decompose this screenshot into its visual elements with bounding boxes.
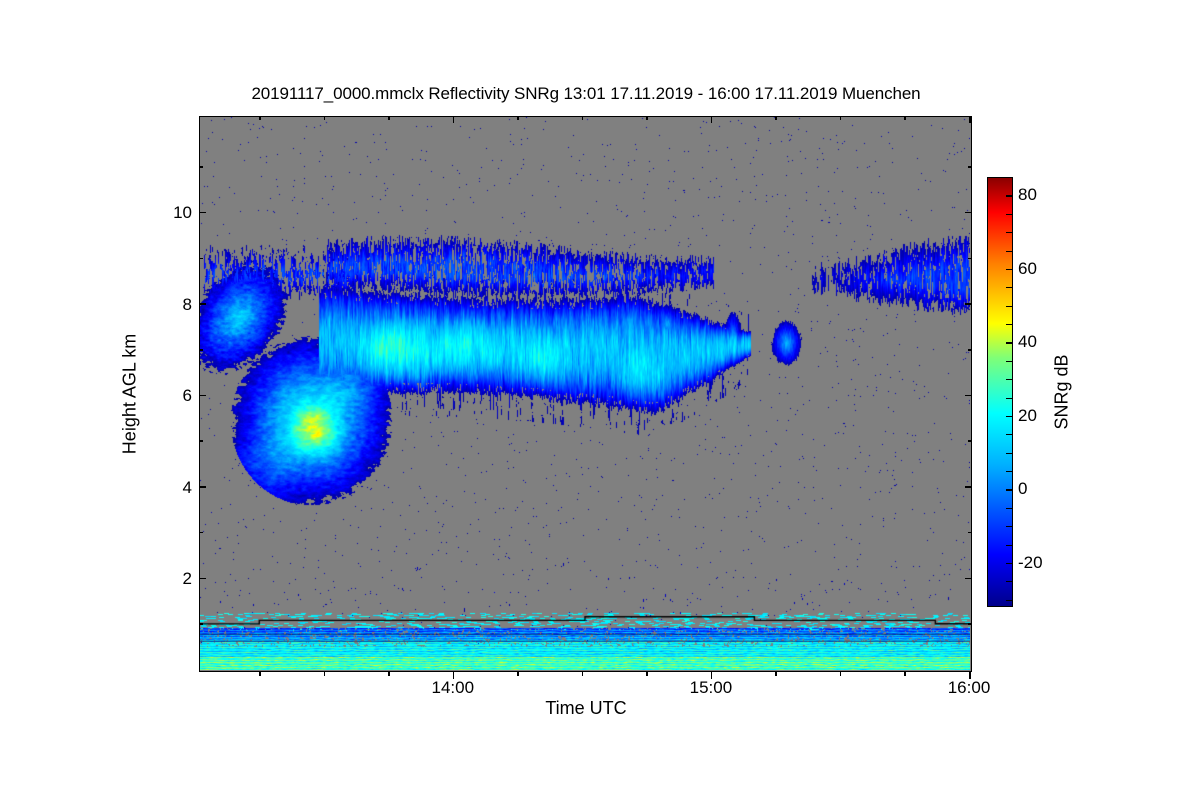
x-minor-tick-mark (775, 116, 777, 120)
colorbar-tick-mark (1006, 287, 1012, 288)
colorbar-tick-label: 40 (1018, 332, 1037, 352)
y-tick-mark (199, 395, 206, 397)
x-minor-tick-mark (840, 116, 842, 120)
y-minor-tick-mark (199, 166, 203, 168)
x-minor-tick-mark (646, 116, 648, 120)
y-minor-tick-mark (968, 623, 972, 625)
x-minor-tick-mark (904, 672, 906, 676)
colorbar-tick-mark (1006, 526, 1012, 527)
colorbar-tick-mark (1006, 508, 1012, 509)
colorbar-tick-mark (1006, 269, 1012, 270)
y-minor-tick-mark (199, 258, 203, 260)
colorbar-tick-mark (1006, 563, 1012, 564)
x-tick-label: 16:00 (948, 678, 991, 698)
colorbar-gradient (988, 178, 1012, 606)
x-axis-label: Time UTC (545, 698, 626, 719)
y-tick-mark (965, 578, 972, 580)
colorbar-tick-mark (1006, 251, 1012, 252)
y-tick-mark (199, 212, 206, 214)
x-minor-tick-mark (324, 672, 326, 676)
x-tick-mark (711, 672, 713, 679)
colorbar-tick-label: 0 (1018, 479, 1027, 499)
colorbar-tick-label: 60 (1018, 259, 1037, 279)
colorbar-tick-mark (1006, 489, 1012, 490)
x-tick-label: 15:00 (690, 678, 733, 698)
x-tick-mark (969, 116, 971, 123)
x-minor-tick-mark (259, 672, 261, 676)
y-tick-mark (199, 486, 206, 488)
colorbar-tick-mark (1006, 453, 1012, 454)
colorbar-tick-label: 80 (1018, 185, 1037, 205)
colorbar-tick-mark (1006, 581, 1012, 582)
y-tick-mark (965, 212, 972, 214)
y-axis-label: Height AGL km (120, 334, 141, 454)
colorbar-tick-mark (1006, 434, 1012, 435)
colorbar-tick-label: 20 (1018, 406, 1037, 426)
x-minor-tick-mark (582, 116, 584, 120)
y-tick-label: 6 (152, 386, 192, 406)
x-minor-tick-mark (517, 116, 519, 120)
x-tick-mark (453, 672, 455, 679)
x-minor-tick-mark (646, 672, 648, 676)
x-minor-tick-mark (775, 672, 777, 676)
y-tick-mark (199, 303, 206, 305)
y-minor-tick-mark (968, 166, 972, 168)
page-title: 20191117_0000.mmclx Reflectivity SNRg 13… (199, 84, 973, 104)
radar-figure: 20191117_0000.mmclx Reflectivity SNRg 13… (0, 0, 1200, 800)
x-minor-tick-mark (904, 116, 906, 120)
x-tick-label: 14:00 (432, 678, 475, 698)
colorbar-tick-mark (1006, 195, 1012, 196)
colorbar-tick-mark (1006, 306, 1012, 307)
colorbar-tick-mark (1006, 361, 1012, 362)
x-tick-mark (969, 672, 971, 679)
y-minor-tick-mark (968, 349, 972, 351)
colorbar-tick-label: -20 (1018, 553, 1043, 573)
y-tick-label: 2 (152, 569, 192, 589)
colorbar-label: SNRg dB (1052, 354, 1073, 429)
y-minor-tick-mark (968, 258, 972, 260)
colorbar-tick-mark (1006, 545, 1012, 546)
colorbar-tick-mark (1006, 232, 1012, 233)
x-minor-tick-mark (259, 116, 261, 120)
colorbar-tick-mark (1006, 471, 1012, 472)
reflectivity-heatmap (200, 117, 970, 670)
x-minor-tick-mark (582, 672, 584, 676)
x-minor-tick-mark (388, 116, 390, 120)
colorbar (987, 177, 1013, 607)
colorbar-tick-mark (1006, 416, 1012, 417)
x-minor-tick-mark (388, 672, 390, 676)
y-tick-mark (965, 395, 972, 397)
x-minor-tick-mark (840, 672, 842, 676)
y-axis-ticks: 246810 (148, 116, 192, 672)
colorbar-tick-mark (1006, 324, 1012, 325)
y-minor-tick-mark (199, 623, 203, 625)
x-tick-mark (711, 116, 713, 123)
x-minor-tick-mark (324, 116, 326, 120)
colorbar-tick-mark (1006, 214, 1012, 215)
colorbar-tick-mark (1006, 379, 1012, 380)
x-minor-tick-mark (517, 672, 519, 676)
colorbar-tick-mark (1006, 398, 1012, 399)
colorbar-tick-mark (1006, 342, 1012, 343)
y-minor-tick-mark (199, 532, 203, 534)
y-minor-tick-mark (199, 440, 203, 442)
colorbar-tick-mark (1006, 600, 1012, 601)
y-minor-tick-mark (968, 532, 972, 534)
plot-area (199, 116, 972, 672)
y-tick-mark (965, 486, 972, 488)
y-minor-tick-mark (968, 440, 972, 442)
x-tick-mark (453, 116, 455, 123)
y-tick-label: 10 (152, 203, 192, 223)
y-tick-label: 4 (152, 478, 192, 498)
y-tick-mark (199, 578, 206, 580)
y-minor-tick-mark (199, 349, 203, 351)
y-tick-label: 8 (152, 295, 192, 315)
y-tick-mark (965, 303, 972, 305)
